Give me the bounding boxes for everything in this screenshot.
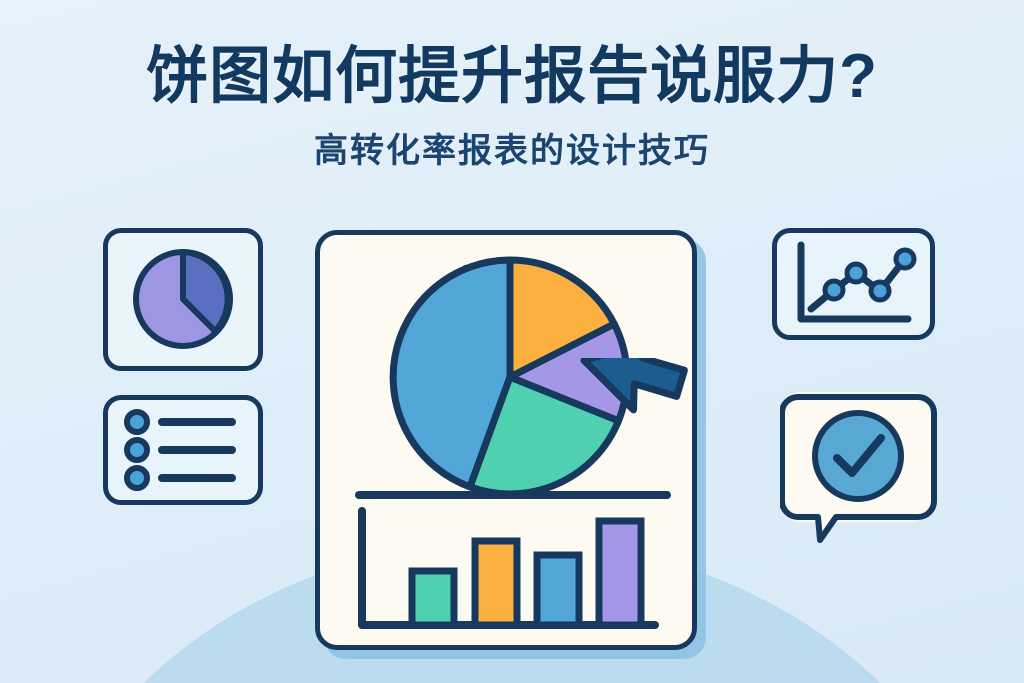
report-preview-card[interactable] — [315, 230, 697, 650]
list-item — [127, 412, 232, 432]
bullet-list-badge[interactable] — [103, 395, 263, 505]
approval-badge[interactable] — [780, 392, 932, 522]
line-chart-icon — [777, 233, 930, 335]
section-divider — [353, 488, 673, 502]
list-item — [127, 468, 232, 488]
bar-1 — [412, 571, 454, 625]
page-title: 饼图如何提升报告说服力? — [0, 44, 1024, 109]
title-block: 饼图如何提升报告说服力? 高转化率报表的设计技巧 — [0, 0, 1024, 172]
pie-chart-badge[interactable] — [103, 228, 263, 371]
mouse-cursor[interactable] — [570, 358, 690, 473]
bar-3 — [537, 555, 579, 625]
bar-4 — [599, 521, 641, 625]
list-item — [127, 440, 232, 460]
bar-2 — [475, 541, 517, 625]
pie-chart-icon — [108, 233, 258, 366]
poster-canvas: 饼图如何提升报告说服力? 高转化率报表的设计技巧 — [0, 0, 1024, 683]
bar-chart-main[interactable] — [350, 505, 670, 637]
line-chart-badge[interactable] — [772, 228, 935, 340]
page-subtitle: 高转化率报表的设计技巧 — [0, 123, 1024, 172]
check-circle-icon — [780, 392, 952, 544]
bullet-list-icon — [108, 400, 258, 500]
